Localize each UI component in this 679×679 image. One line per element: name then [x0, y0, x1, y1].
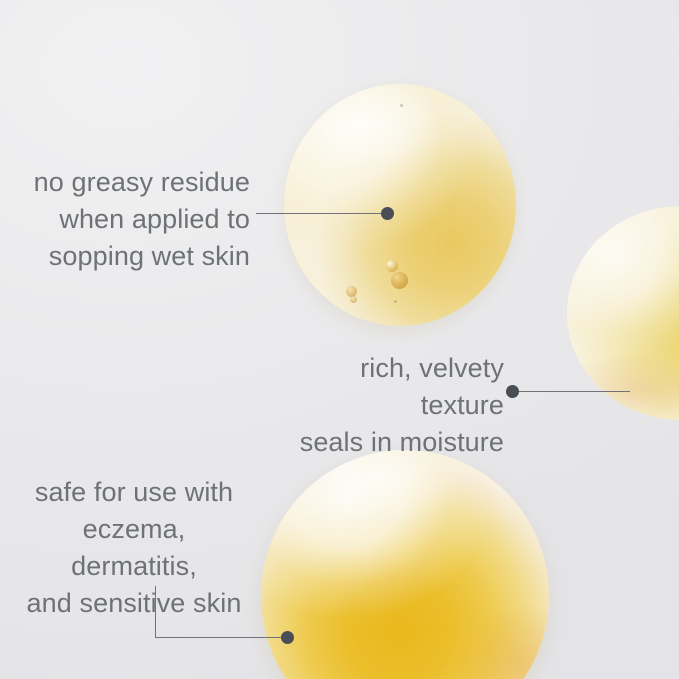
- infographic-canvas: no greasy residue when applied to soppin…: [0, 0, 679, 679]
- leader-dot-safe-for-sensitive-skin: [281, 631, 294, 644]
- callout-text-no-greasy-residue: no greasy residue when applied to soppin…: [26, 164, 250, 275]
- droplet-bubble: [391, 272, 408, 289]
- leader-dot-no-greasy-residue: [381, 207, 394, 220]
- leader-line-safe-vertical: [155, 586, 156, 638]
- leader-line-safe-horizontal: [155, 637, 287, 638]
- leader-line-no-greasy-residue: [256, 213, 388, 214]
- droplet-bubble: [386, 260, 398, 272]
- droplet-top-image: [284, 84, 516, 326]
- droplet-bubble: [350, 296, 357, 303]
- leader-line-rich-velvety-texture: [518, 391, 630, 392]
- callout-text-safe-for-sensitive-skin: safe for use with eczema, dermatitis, an…: [22, 474, 246, 622]
- leader-dot-rich-velvety-texture: [506, 385, 519, 398]
- droplet-speck: [400, 104, 403, 107]
- droplet-speck: [394, 300, 397, 303]
- callout-text-rich-velvety-texture: rich, velvety texture seals in moisture: [270, 350, 504, 461]
